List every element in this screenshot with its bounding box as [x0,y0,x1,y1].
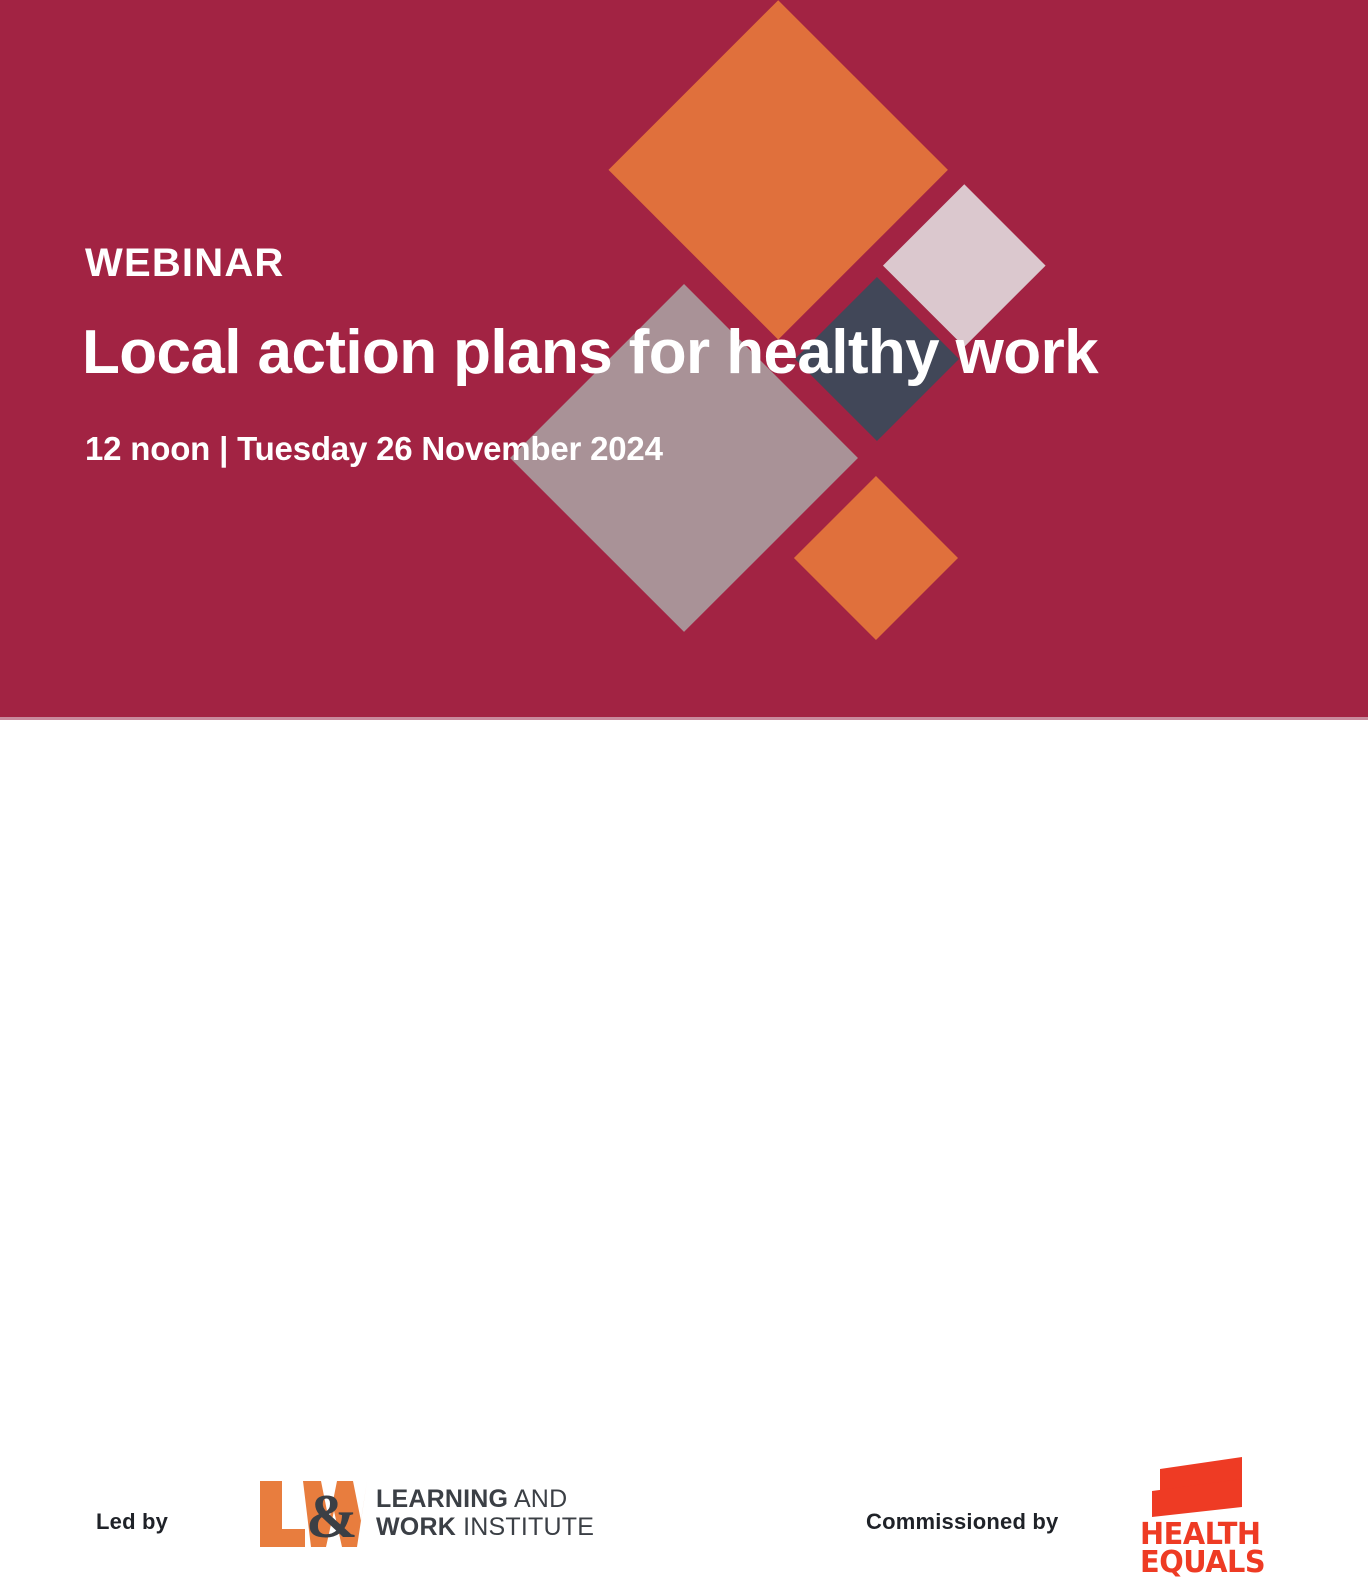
page-title: Local action plans for healthy work [82,320,1098,386]
health-equals-line-1: HEALTH [1140,1521,1265,1549]
lw-wordmark-line-1: LEARNING AND [376,1485,594,1513]
led-by-label: Led by [96,1509,168,1535]
lw-line2-bold: WORK [376,1513,456,1541]
hero-bottom-divider [0,717,1368,720]
hero-banner: WEBINAR Local action plans for healthy w… [0,0,1368,719]
learning-and-work-institute-logo: & LEARNING AND WORK INSTITUTE [258,1477,568,1561]
lw-wordmark: LEARNING AND WORK INSTITUTE [376,1485,594,1541]
commissioned-by-label: Commissioned by [866,1509,1058,1535]
lw-line1-bold: LEARNING [376,1485,508,1513]
hero-text-block: WEBINAR Local action plans for healthy w… [85,0,1285,719]
event-datetime: 12 noon | Tuesday 26 November 2024 [85,431,663,467]
lw-line1-light: AND [514,1485,567,1513]
lw-wordmark-line-2: WORK INSTITUTE [376,1513,594,1541]
health-equals-logo: HEALTH EQUALS [1138,1455,1246,1585]
footer-bar: Led by & LEARNING AND WORK INSTITUTE Com… [0,720,1368,906]
eyebrow-label: WEBINAR [85,243,285,283]
health-equals-bars-icon [1138,1455,1246,1517]
lw-monogram-icon: & [258,1477,368,1549]
health-equals-wordmark: HEALTH EQUALS [1140,1521,1270,1576]
lw-line2-light: INSTITUTE [463,1513,594,1541]
svg-text:&: & [306,1483,358,1549]
health-equals-line-2: EQUALS [1140,1549,1265,1577]
